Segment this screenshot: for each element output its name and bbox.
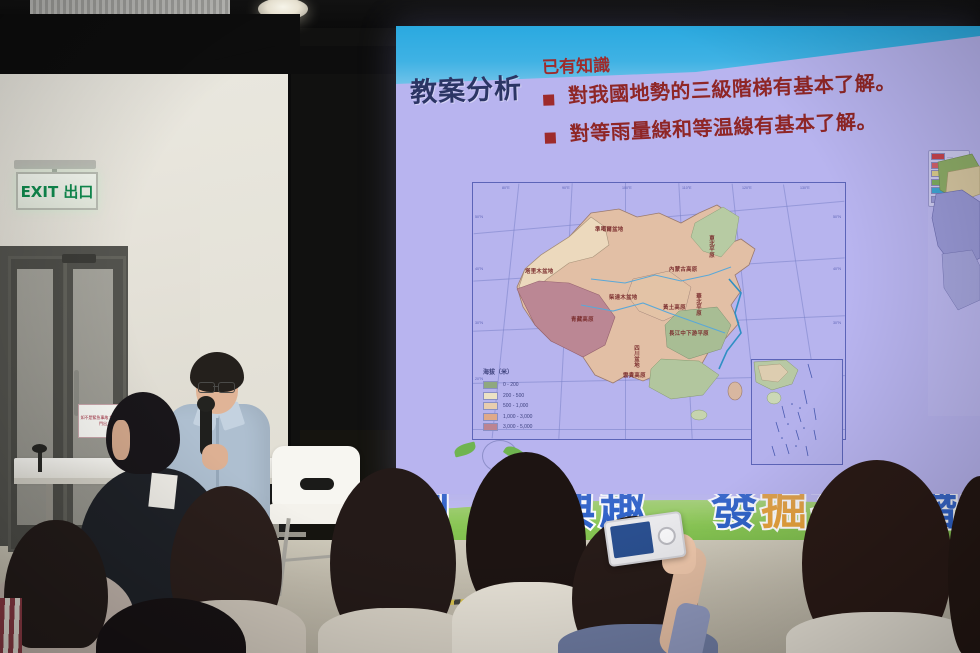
leaf-icon xyxy=(453,442,477,458)
legend-swatch xyxy=(483,392,498,400)
bullet-square-icon xyxy=(545,132,556,143)
legend-label: 200 - 500 xyxy=(503,393,524,399)
map-region-label: 四川盆地 xyxy=(633,345,639,368)
map-region-label: 黃土高原 xyxy=(663,305,686,311)
slide-subtitle: 已有知識 xyxy=(542,51,611,78)
map-lat-tick: 50°N xyxy=(833,215,841,219)
eyeglasses-bridge xyxy=(213,386,218,387)
legend-title: 海拔（米） xyxy=(483,367,579,376)
desk-microphone-stand xyxy=(38,450,42,472)
map-lat-tick: 50°N xyxy=(475,215,483,219)
slide-title: 教案分析 xyxy=(409,65,550,109)
wall-corner-shadow xyxy=(288,36,291,496)
legend-swatch xyxy=(483,381,498,389)
photo-scene: 同 興趣 發掘孩子潛能 如不是緊急事故 請勿使用此門出入 EXIT 出口 教案分… xyxy=(0,0,980,653)
legend-swatch xyxy=(483,423,498,431)
map-region-label: 內蒙古高原 xyxy=(669,267,697,273)
legend-label: 3,000 - 5,000 xyxy=(503,424,532,430)
legend-row: 200 - 500 xyxy=(483,392,579,400)
phone-screen xyxy=(610,521,654,558)
secondary-display: ———————————— xyxy=(928,150,980,416)
eyeglasses-icon xyxy=(218,382,235,393)
exit-sign: EXIT 出口 xyxy=(16,172,98,210)
door-closer xyxy=(62,254,96,263)
south-china-sea-inset xyxy=(751,359,843,465)
map-region-label: 塔里木盆地 xyxy=(525,269,553,275)
map-region-label: 華北平原 xyxy=(695,293,701,316)
desk-microphone-head xyxy=(32,444,47,453)
map-region-label: 雲貴高原 xyxy=(623,373,646,379)
map-lat-tick: 20°N xyxy=(475,377,483,381)
projection-screen: 教案分析 已有知識 對我國地勢的三級階梯有基本了解。 對等雨量線和等温線有基本了… xyxy=(396,26,980,494)
map-region-label: 柴達木盆地 xyxy=(609,295,637,301)
legend-row: 1,000 - 3,000 xyxy=(483,413,579,421)
legend-row: 3,000 - 5,000 xyxy=(483,423,579,431)
eyeglasses-icon xyxy=(198,382,215,393)
bullet-square-icon xyxy=(543,94,554,105)
exit-sign-housing xyxy=(14,160,96,169)
legend-swatch xyxy=(483,413,498,421)
slide-bullet-list: 對我國地勢的三級階梯有基本了解。 對等雨量線和等温線有基本了解。 xyxy=(543,67,966,161)
map-lon-tick: 130°E xyxy=(800,186,810,190)
map-elevation-legend: 海拔（米） 0 - 200200 - 500500 - 1,0001,000 -… xyxy=(483,367,579,434)
slide-bullet-text: 對等雨量線和等温線有基本了解。 xyxy=(569,109,877,148)
map-frame: 準噶爾盆地塔里木盆地柴達木盆地青藏高原內蒙古高原黃土高原東北平原華北平原長江中下… xyxy=(472,182,846,440)
map-lon-tick: 120°E xyxy=(742,186,752,190)
ceiling-grille xyxy=(30,0,230,16)
exit-sign-label: EXIT 出口 xyxy=(21,181,94,202)
map-lat-tick: 30°N xyxy=(475,321,483,325)
slide-bullet-text: 對我國地勢的三級階梯有基本了解。 xyxy=(568,70,897,110)
legend-label: 1,000 - 3,000 xyxy=(503,414,532,420)
speaker-hand xyxy=(202,444,228,470)
legend-row: 0 - 200 xyxy=(483,381,579,389)
legend-label: 500 - 1,000 xyxy=(503,403,528,409)
handheld-microphone-head xyxy=(197,396,215,412)
map-lon-tick: 90°E xyxy=(562,186,570,190)
slide-bullet-item: 對等雨量線和等温線有基本了解。 xyxy=(544,105,965,149)
map-lat-tick: 40°N xyxy=(833,267,841,271)
map-lat-tick: 30°N xyxy=(833,321,841,325)
legend-label: 0 - 200 xyxy=(503,382,519,388)
door-leaf-left[interactable] xyxy=(8,256,66,552)
map-lon-tick: 80°E xyxy=(502,186,510,190)
map-region-label: 長江中下游平原 xyxy=(669,331,709,337)
map-lat-tick: 40°N xyxy=(475,267,483,271)
map-region-label: 青藏高原 xyxy=(571,317,594,323)
map-lon-tick: 110°E xyxy=(682,186,692,190)
map-region-label: 準噶爾盆地 xyxy=(595,227,623,233)
china-relief-map: 準噶爾盆地塔里木盆地柴達木盆地青藏高原內蒙古高原黃土高原東北平原華北平原長江中下… xyxy=(472,182,844,464)
map-region-label: 東北平原 xyxy=(708,235,714,258)
legend-row: 500 - 1,000 xyxy=(483,402,579,410)
chair-backrest-slot xyxy=(300,478,334,490)
legend-swatch xyxy=(483,402,498,410)
camera-shutter-icon xyxy=(657,526,677,546)
map-lon-tick: 100°E xyxy=(622,186,632,190)
